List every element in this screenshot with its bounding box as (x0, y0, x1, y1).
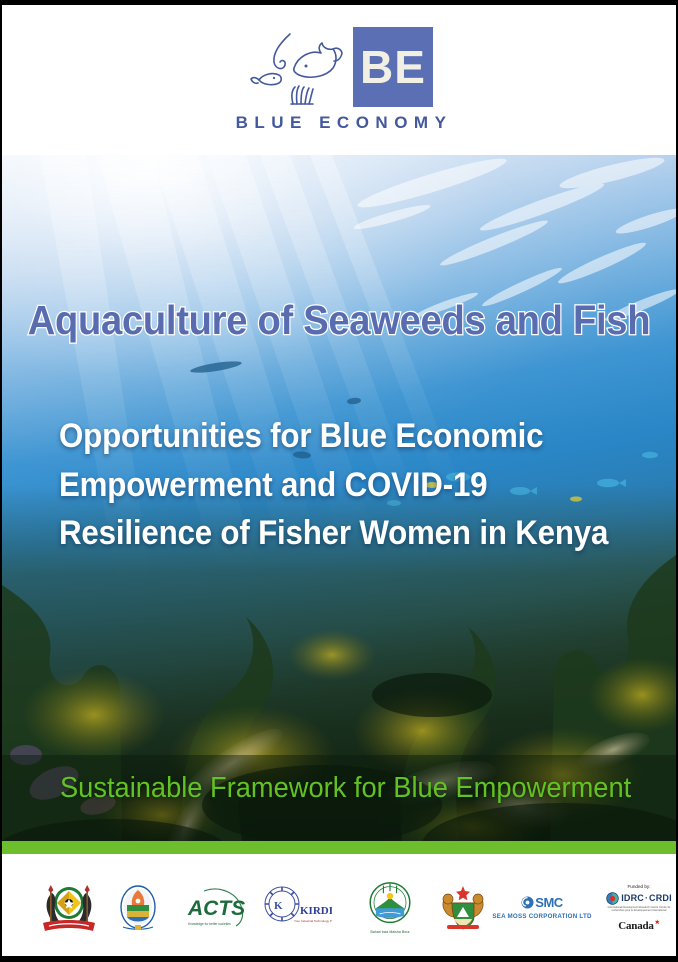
footer-logo-row: ACTS Knowledge for better societies K KI… (2, 854, 676, 961)
hero-photo-section: Aquaculture of Seaweeds and Fish Opportu… (2, 155, 676, 841)
page-title: Aquaculture of Seaweeds and Fish (26, 300, 653, 342)
kenya-coat-of-arms-logo (38, 878, 100, 936)
county-arms-icon (437, 881, 489, 933)
page-tagline: Sustainable Framework for Blue Empowerme… (60, 773, 633, 805)
smc-logo: SMC SEA MOSS CORPORATION LTD (495, 886, 589, 928)
green-divider-band (2, 841, 676, 854)
county-emblem-icon (115, 881, 161, 933)
subtitle-line-3: Resilience of Fisher Women in Kenya (59, 509, 611, 558)
kirdi-text: KIRDI (300, 905, 332, 917)
blue-economy-wordmark: BLUE ECONOMY (230, 113, 453, 133)
svg-text:K: K (274, 900, 283, 912)
be-monogram-text: BE (360, 44, 426, 90)
smc-brand-text: SMC (535, 895, 562, 910)
subtitle-line-2: Empowerment and COVID-19 (59, 461, 611, 510)
idrc-separator: · (645, 893, 648, 903)
subtitle-line-1: Opportunities for Blue Economic (59, 412, 611, 461)
smc-swirl-icon (521, 896, 534, 909)
kwale-seal-icon (363, 880, 417, 929)
smc-full-name: SEA MOSS CORPORATION LTD (492, 913, 591, 920)
smc-brand-row: SMC (521, 895, 562, 910)
acts-text: ACTS (187, 897, 245, 920)
kirdi-logo: K KIRDI Your Industrial Technology Partn… (260, 880, 332, 934)
fish-and-coral-icon (249, 28, 345, 106)
acts-icon: ACTS Knowledge for better societies (184, 883, 248, 931)
idrc-subtitle: International Development Research Centr… (605, 906, 673, 912)
acts-logo: ACTS Knowledge for better societies (184, 882, 248, 932)
hero-text-layer: Aquaculture of Seaweeds and Fish Opportu… (2, 155, 676, 841)
idrc-text: IDRC (621, 893, 644, 903)
funded-by-label: Funded by: (628, 884, 651, 889)
blue-economy-logo: BE BLUE ECONOMY (230, 27, 453, 133)
canada-text: Canada (618, 920, 653, 932)
logo-row: BE (249, 27, 433, 107)
county-government-emblem-logo (114, 880, 162, 934)
kwale-county-seal-logo: Bahari kwa Maisha Bora (362, 880, 418, 934)
county-arms-lions-logo (436, 880, 490, 934)
kirdi-tagline-text: Your Industrial Technology Partner... (294, 919, 332, 923)
idrc-globe-icon (606, 892, 619, 905)
crdi-text: CRDI (649, 893, 672, 903)
kirdi-icon: K KIRDI Your Industrial Technology Partn… (260, 882, 332, 932)
header-logo-band: BE BLUE ECONOMY (2, 5, 676, 155)
kenya-coat-of-arms-icon (39, 879, 99, 935)
idrc-crdi-logo: Funded by: IDRC · CRDI International Dev… (600, 866, 678, 950)
report-cover-page: BE BLUE ECONOMY (0, 0, 678, 962)
kwale-caption: Bahari kwa Maisha Bora (371, 930, 410, 934)
canada-flag-icon (655, 919, 660, 924)
canada-wordmark: Canada (618, 919, 659, 932)
idrc-brand-row: IDRC · CRDI (606, 892, 672, 905)
page-subtitle: Opportunities for Blue Economic Empowerm… (59, 412, 611, 558)
acts-tagline-text: Knowledge for better societies (188, 922, 231, 926)
footer-partner-logos: ACTS Knowledge for better societies K KI… (2, 854, 676, 961)
be-monogram-box: BE (353, 27, 433, 107)
